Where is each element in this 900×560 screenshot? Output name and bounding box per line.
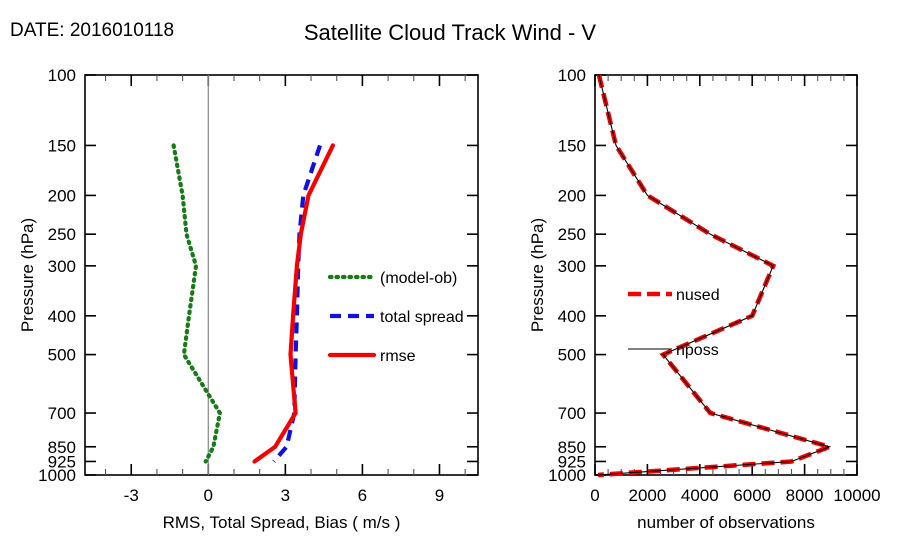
right-y-tick-label: 100 [558,66,586,85]
left-x-tick-label: -3 [124,486,139,505]
right-x-tick-label: 8000 [786,486,824,505]
left-series-rmse [255,145,333,461]
left-legend-label-0: (model-ob) [380,270,457,287]
left-x-tick-label: 0 [204,486,213,505]
left-y-tick-label: 250 [48,225,76,244]
left-x-tick-label: 6 [358,486,367,505]
right-x-tick-label: 6000 [733,486,771,505]
right-x-tick-label: 4000 [681,486,719,505]
left-y-tick-label: 100 [48,66,76,85]
right-series-nused [598,75,829,475]
right-legend-label-0: nused [676,287,720,304]
left-y-axis-title: Pressure (hPa) [18,218,37,332]
right-y-tick-label: 700 [558,404,586,423]
left-y-tick-label: 200 [48,186,76,205]
left-y-tick-label: 150 [48,136,76,155]
right-y-tick-label: 300 [558,257,586,276]
left-x-tick-label: 3 [281,486,290,505]
left-y-tick-label: 1000 [38,466,76,485]
chart-page: DATE: 2016010118 Satellite Cloud Track W… [0,0,900,560]
right-x-axis-title: number of observations [637,513,815,532]
left-x-axis-title: RMS, Total Spread, Bias ( m/s ) [163,513,401,532]
right-legend-label-1: nposs [676,342,719,359]
left-legend-label-1: total spread [380,309,464,326]
right-y-tick-label: 500 [558,346,586,365]
left-y-tick-label: 700 [48,404,76,423]
right-plot-frame [595,75,857,475]
right-y-tick-label: 400 [558,307,586,326]
right-y-tick-label: 200 [558,186,586,205]
right-y-tick-label: 150 [558,136,586,155]
left-y-tick-label: 500 [48,346,76,365]
left-y-tick-label: 300 [48,257,76,276]
right-x-tick-label: 2000 [628,486,666,505]
left-y-tick-label: 400 [48,307,76,326]
right-y-axis-title: Pressure (hPa) [528,218,547,332]
left-legend-label-2: rmse [380,348,416,365]
right-x-tick-label: 10000 [833,486,880,505]
right-y-tick-label: 1000 [548,466,586,485]
left-series-modelob [174,145,220,461]
left-x-tick-label: 9 [435,486,444,505]
right-y-tick-label: 250 [558,225,586,244]
right-x-tick-label: 0 [590,486,599,505]
profile-plots: -303691001502002503004005007008509251000… [0,0,900,560]
